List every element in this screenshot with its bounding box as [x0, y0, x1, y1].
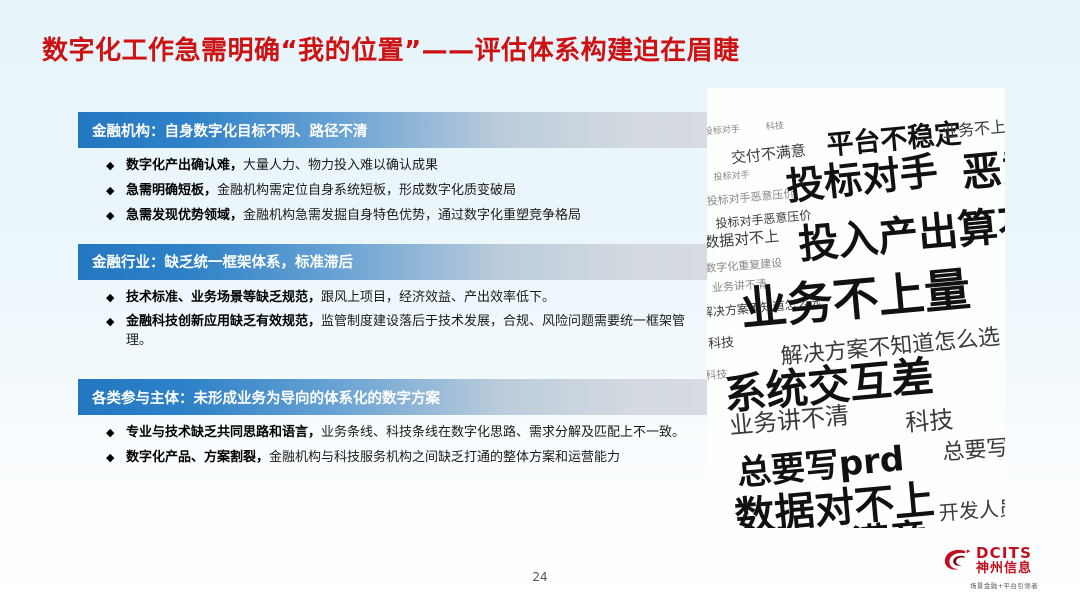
list-item-lead: 专业与技术缺乏共同思路和语言， — [126, 425, 321, 440]
section-header-text: 未形成业务为导向的体系化的数字方案 — [194, 387, 441, 408]
list-item-body: 金融机构需定位自身系统短板，形成数字化质变破局 — [217, 183, 516, 198]
word-cloud-term: 科技 — [904, 408, 954, 435]
section-header: 金融机构： 自身数字化目标不明、路径不清 — [78, 112, 708, 148]
word-cloud-term: 开发人员不足 — [938, 494, 1005, 523]
list-item-lead: 数字化产品、方案割裂， — [126, 450, 269, 465]
list-item-text: 急需发现优势领域，金融机构急需发掘自身特色优势，通过数字化重塑竞争格局 — [126, 207, 708, 226]
page-number: 24 — [0, 570, 1080, 584]
list-item: ◆ 数字化产品、方案割裂，金融机构与科技服务机构之间缺乏打通的整体方案和运营能力 — [106, 449, 708, 468]
word-cloud-term: 总要写prd — [942, 435, 1005, 464]
word-cloud-image: 交付不满意平台不稳定业务不上量投标对手恶意压价科技投标对手科技投标对手投标对手恶… — [707, 88, 1005, 528]
list-item-body: 跟风上项目，经济效益、产出效率低下。 — [321, 290, 555, 305]
bullet-list: ◆ 数字化产出确认难，大量人力、物力投入难以确认成果 ◆ 急需明确短板，金融机构… — [78, 157, 708, 226]
list-item-body: 业务条线、科技条线在数字化思路、需求分解及匹配上不一致。 — [321, 425, 685, 440]
list-item: ◆ 技术标准、业务场景等缺乏规范，跟风上项目，经济效益、产出效率低下。 — [106, 289, 708, 308]
word-cloud-term: 业务不上量 — [739, 266, 972, 333]
diamond-bullet-icon: ◆ — [106, 157, 126, 174]
page-title: 数字化工作急需明确“我的位置”——评估体系构建迫在眉睫 — [42, 30, 1002, 67]
section-header-key: 各类参与主体： — [92, 387, 194, 408]
diamond-bullet-icon: ◆ — [106, 424, 126, 441]
company-logo: DCITS 神州信息 场景金融+平台引领者 — [942, 543, 1066, 597]
word-cloud-term: 投标对手 — [784, 152, 939, 206]
list-item-text: 技术标准、业务场景等缺乏规范，跟风上项目，经济效益、产出效率低下。 — [126, 289, 708, 308]
word-cloud-term: 投标对手恶意压价 — [707, 188, 795, 207]
logo-row: DCITS 神州信息 — [942, 543, 1066, 577]
section-header-text: 自身数字化目标不明、路径不清 — [165, 120, 368, 141]
word-cloud-term: 恶意压价 — [960, 140, 1005, 194]
diamond-bullet-icon: ◆ — [106, 449, 126, 466]
list-item-text: 数字化产出确认难，大量人力、物力投入难以确认成果 — [126, 157, 708, 176]
word-cloud-term: 投标对手 — [713, 171, 750, 183]
section-header-text: 缺乏统一框架体系，标准滞后 — [165, 251, 354, 272]
list-item-lead: 数字化产出确认难， — [126, 158, 243, 173]
word-cloud-term: 科技 — [708, 336, 735, 351]
list-item-text: 金融科技创新应用缺乏有效规范，监管制度建设落后于技术发展，合规、风险问题需要统一… — [126, 313, 708, 351]
list-item-text: 急需明确短板，金融机构需定位自身系统短板，形成数字化质变破局 — [126, 182, 708, 201]
section-header-key: 金融行业： — [92, 251, 165, 272]
bullet-list: ◆ 技术标准、业务场景等缺乏规范，跟风上项目，经济效益、产出效率低下。 ◆ 金融… — [78, 289, 708, 352]
section-header: 各类参与主体： 未形成业务为导向的体系化的数字方案 — [78, 379, 708, 415]
word-cloud-term: 数据对不上 — [707, 229, 780, 251]
logo-tagline: 场景金融+平台引领者 — [947, 581, 1061, 590]
list-item: ◆ 专业与技术缺乏共同思路和语言，业务条线、科技条线在数字化思路、需求分解及匹配… — [106, 424, 708, 443]
logo-text: DCITS 神州信息 — [976, 546, 1032, 575]
list-item-text: 数字化产品、方案割裂，金融机构与科技服务机构之间缺乏打通的整体方案和运营能力 — [126, 449, 708, 468]
word-cloud-term: 科技 — [766, 122, 785, 132]
diamond-bullet-icon: ◆ — [106, 182, 126, 199]
list-item-body: 金融机构急需发掘自身特色优势，通过数字化重塑竞争格局 — [243, 208, 581, 223]
word-cloud-canvas: 交付不满意平台不稳定业务不上量投标对手恶意压价科技投标对手科技投标对手投标对手恶… — [707, 88, 1005, 528]
word-cloud-term: 投标对手 — [707, 126, 740, 138]
dcits-swirl-logo-icon — [942, 546, 972, 574]
list-item: ◆ 金融科技创新应用缺乏有效规范，监管制度建设落后于技术发展，合规、风险问题需要… — [106, 313, 708, 351]
diamond-bullet-icon: ◆ — [106, 207, 126, 224]
list-item-text: 专业与技术缺乏共同思路和语言，业务条线、科技条线在数字化思路、需求分解及匹配上不… — [126, 424, 708, 443]
section-financial-industry: 金融行业： 缺乏统一框架体系，标准滞后 ◆ 技术标准、业务场景等缺乏规范，跟风上… — [78, 244, 708, 352]
section-header: 金融行业： 缺乏统一框架体系，标准滞后 — [78, 244, 708, 280]
section-financial-institutions: 金融机构： 自身数字化目标不明、路径不清 ◆ 数字化产出确认难，大量人力、物力投… — [78, 112, 708, 226]
list-item-lead: 急需发现优势领域， — [126, 208, 243, 223]
list-item-lead: 急需明确短板， — [126, 183, 217, 198]
diamond-bullet-icon: ◆ — [106, 313, 126, 330]
list-item-body: 金融机构与科技服务机构之间缺乏打通的整体方案和运营能力 — [269, 450, 620, 465]
word-cloud-term: 投入产出算不出 — [797, 200, 1005, 265]
list-item-body: 大量人力、物力投入难以确认成果 — [243, 158, 438, 173]
logo-english-name: DCITS — [976, 546, 1032, 561]
logo-chinese-name: 神州信息 — [976, 562, 1032, 575]
content-column: 金融机构： 自身数字化目标不明、路径不清 ◆ 数字化产出确认难，大量人力、物力投… — [78, 112, 708, 474]
section-header-key: 金融机构： — [92, 120, 165, 141]
bullet-list: ◆ 专业与技术缺乏共同思路和语言，业务条线、科技条线在数字化思路、需求分解及匹配… — [78, 424, 708, 468]
list-item: ◆ 急需发现优势领域，金融机构急需发掘自身特色优势，通过数字化重塑竞争格局 — [106, 207, 708, 226]
word-cloud-term: 业务不上量 — [942, 117, 1005, 140]
word-cloud-term: 数字化重复建设 — [707, 258, 782, 275]
list-item-lead: 技术标准、业务场景等缺乏规范， — [126, 290, 321, 305]
list-item: ◆ 数字化产出确认难，大量人力、物力投入难以确认成果 — [106, 157, 708, 176]
section-participants: 各类参与主体： 未形成业务为导向的体系化的数字方案 ◆ 专业与技术缺乏共同思路和… — [78, 379, 708, 468]
diamond-bullet-icon: ◆ — [106, 289, 126, 306]
list-item: ◆ 急需明确短板，金融机构需定位自身系统短板，形成数字化质变破局 — [106, 182, 708, 201]
list-item-lead: 金融科技创新应用缺乏有效规范， — [126, 314, 321, 329]
